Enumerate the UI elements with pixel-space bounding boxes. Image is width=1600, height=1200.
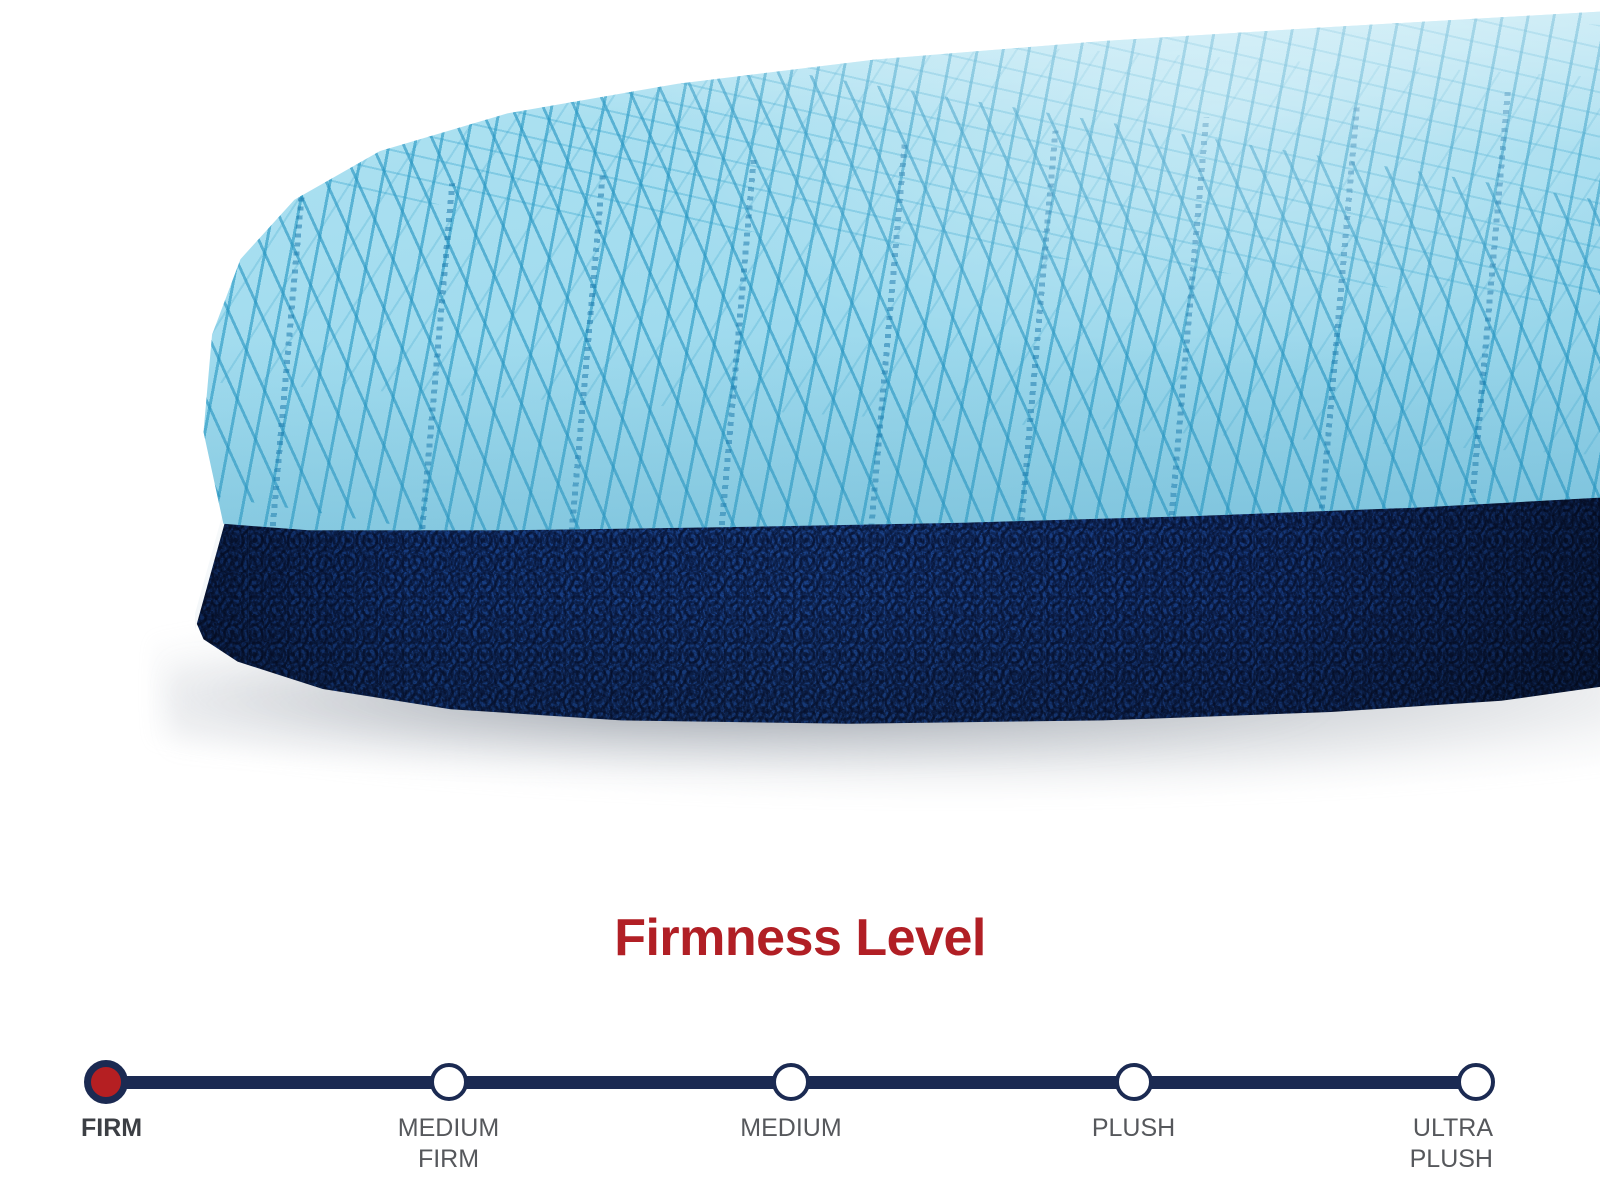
firmness-label: MEDIUM <box>661 1113 921 1144</box>
firmness-marker[interactable] <box>430 1063 468 1101</box>
firmness-scale[interactable]: FIRMMEDIUM FIRMMEDIUMPLUSHULTRA PLUSH <box>0 1025 1600 1185</box>
mattress-top-panel <box>195 0 1600 540</box>
firmness-label: ULTRA PLUSH <box>1201 1113 1493 1175</box>
firmness-marker[interactable] <box>1457 1063 1495 1101</box>
firmness-level-section: Firmness Level FIRMMEDIUM FIRMMEDIUMPLUS… <box>0 880 1600 1200</box>
mattress-illustration <box>195 0 1600 800</box>
firmness-marker[interactable] <box>772 1063 810 1101</box>
firmness-title: Firmness Level <box>0 908 1600 968</box>
firmness-marker[interactable] <box>1115 1063 1153 1101</box>
top-panel-shading <box>195 0 1600 540</box>
firmness-marker-selected[interactable] <box>84 1060 128 1104</box>
firmness-label: MEDIUM FIRM <box>319 1113 579 1175</box>
product-image <box>0 0 1600 880</box>
